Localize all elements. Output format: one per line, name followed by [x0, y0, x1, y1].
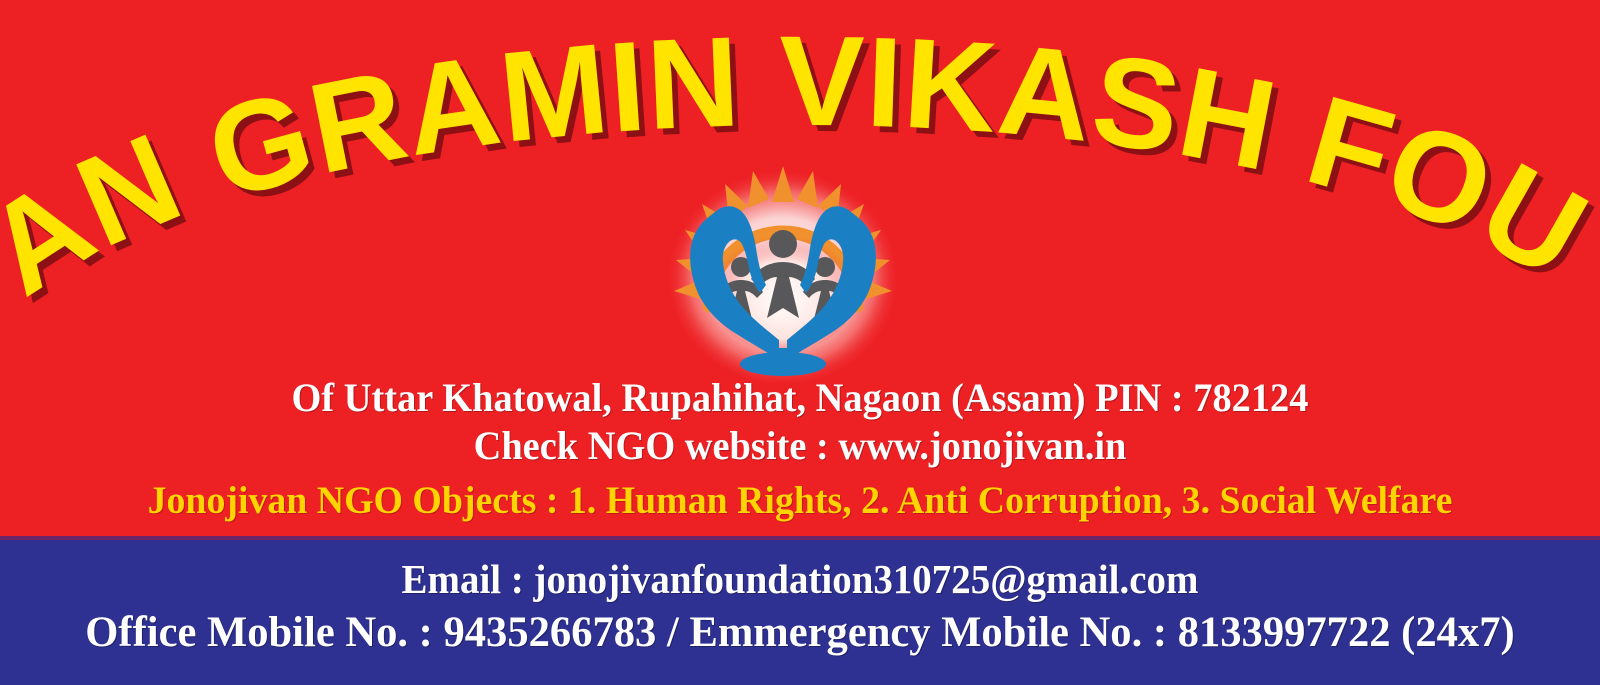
- ngo-banner: JONOJIVAN GRAMIN VIKASH FOUNDATION JONOJ…: [0, 0, 1600, 685]
- ngo-objects-line: Jonojivan NGO Objects : 1. Human Rights,…: [24, 478, 1576, 524]
- ngo-logo-svg: [663, 158, 903, 383]
- banner-info-block: Of Uttar Khatowal, Rupahihat, Nagaon (As…: [0, 374, 1600, 524]
- footer-phone-line: Office Mobile No. : 9435266783 / Emmerge…: [8, 606, 1592, 660]
- footer-email-line: Email : jonojivanfoundation310725@gmail.…: [40, 540, 1560, 604]
- ngo-logo: [663, 158, 903, 383]
- address-line-2: Check NGO website : www.jonojivan.in: [32, 422, 1568, 470]
- banner-footer: Email : jonojivanfoundation310725@gmail.…: [0, 540, 1600, 685]
- address-line-1: Of Uttar Khatowal, Rupahihat, Nagaon (As…: [32, 374, 1568, 422]
